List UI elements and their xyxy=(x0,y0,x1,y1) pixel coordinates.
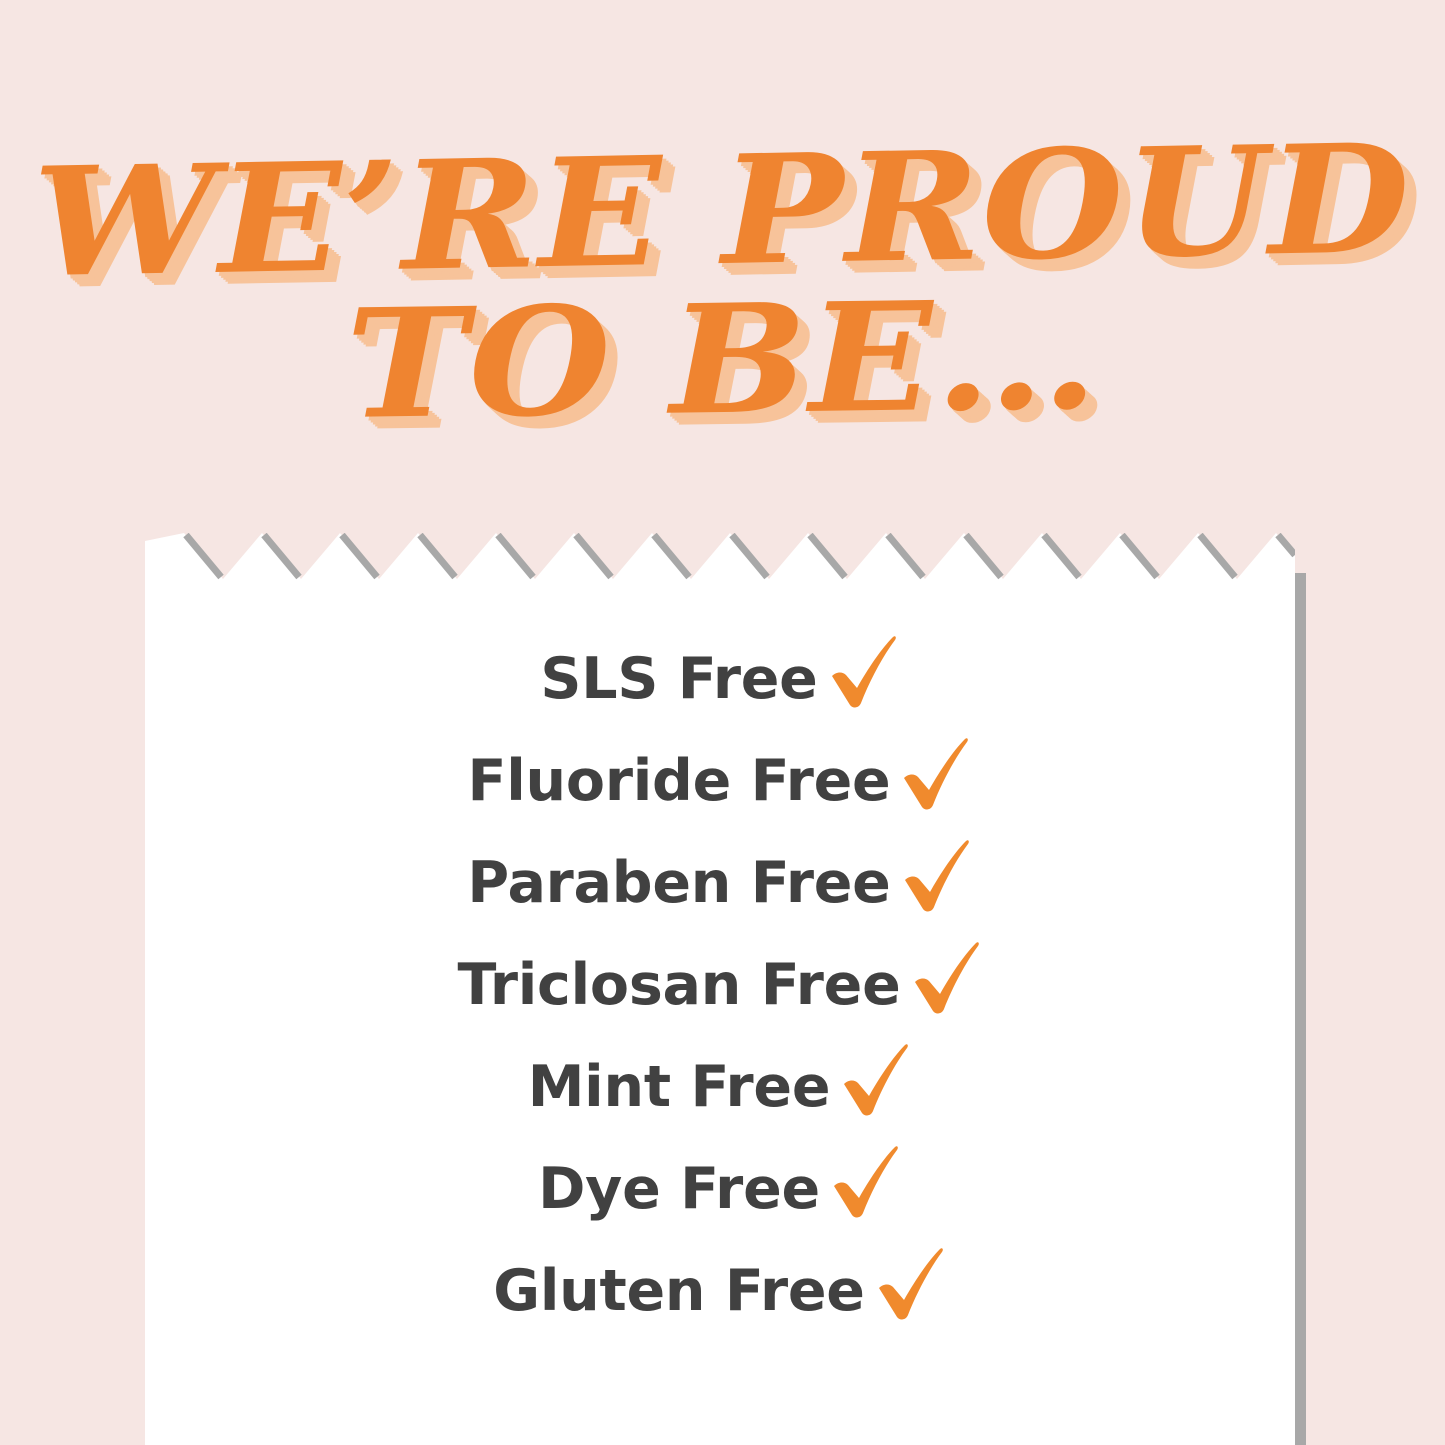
promo-poster: WE’RE PROUD TO BE… xyxy=(0,0,1445,1445)
benefit-label: Paraben Free xyxy=(467,855,890,912)
check-mark-icon xyxy=(826,631,900,711)
check-mark-icon xyxy=(838,1039,912,1119)
list-item: Fluoride Free xyxy=(145,730,1295,832)
benefit-label: SLS Free xyxy=(540,651,817,708)
list-item: Gluten Free xyxy=(145,1240,1295,1342)
benefit-label: Dye Free xyxy=(538,1161,820,1218)
card-right-shadow xyxy=(1295,573,1306,1445)
list-item: Paraben Free xyxy=(145,832,1295,934)
list-item: Dye Free xyxy=(145,1138,1295,1240)
list-item: SLS Free xyxy=(145,628,1295,730)
benefit-label: Gluten Free xyxy=(493,1263,864,1320)
check-mark-icon xyxy=(898,733,972,813)
check-mark-icon xyxy=(828,1141,902,1221)
check-mark-icon xyxy=(909,937,983,1017)
benefit-list: SLS Free Fluoride Free Paraben Free xyxy=(145,628,1295,1342)
benefit-label: Fluoride Free xyxy=(468,753,891,810)
torn-paper-card: SLS Free Fluoride Free Paraben Free xyxy=(145,533,1295,1445)
list-item: Triclosan Free xyxy=(145,934,1295,1036)
benefit-label: Mint Free xyxy=(528,1059,831,1116)
check-mark-icon xyxy=(899,835,973,915)
list-item: Mint Free xyxy=(145,1036,1295,1138)
check-mark-icon xyxy=(873,1243,947,1323)
benefit-label: Triclosan Free xyxy=(457,957,900,1014)
headline-line-2: TO BE… xyxy=(0,277,1445,444)
headline: WE’RE PROUD TO BE… xyxy=(0,138,1445,434)
